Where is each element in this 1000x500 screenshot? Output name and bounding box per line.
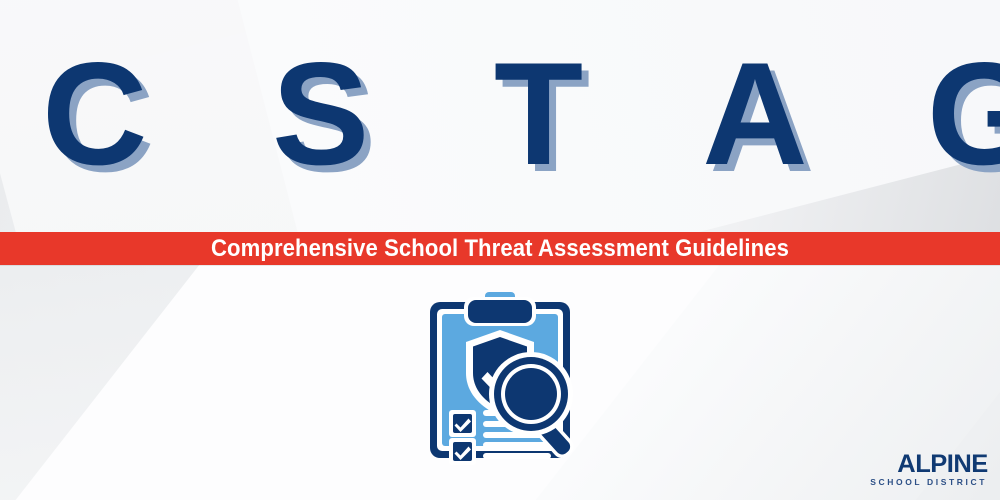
clipboard-line-icon: [483, 453, 551, 459]
alpine-school-district-logo: ALPINE SCHOOL DISTRICT: [870, 451, 988, 488]
tagline-bar: Comprehensive School Threat Assessment G…: [0, 232, 1000, 265]
checkbox-checked-icon: [449, 438, 476, 465]
tagline-text: Comprehensive School Threat Assessment G…: [40, 232, 960, 265]
clipboard-line-icon: [483, 442, 551, 448]
magnifier-lens-icon: [505, 368, 557, 420]
clipboard-clip-icon: [468, 300, 532, 323]
logo-name: ALPINE: [868, 451, 988, 477]
checkbox-checked-icon: [449, 410, 476, 437]
logo-subtitle: SCHOOL DISTRICT: [870, 477, 987, 488]
clipboard-shield-magnifier-icon: [415, 290, 585, 465]
cstag-banner: C S T A G Comprehensive School Threat As…: [0, 0, 1000, 500]
cstag-wordmark: C S T A G: [0, 34, 1000, 194]
